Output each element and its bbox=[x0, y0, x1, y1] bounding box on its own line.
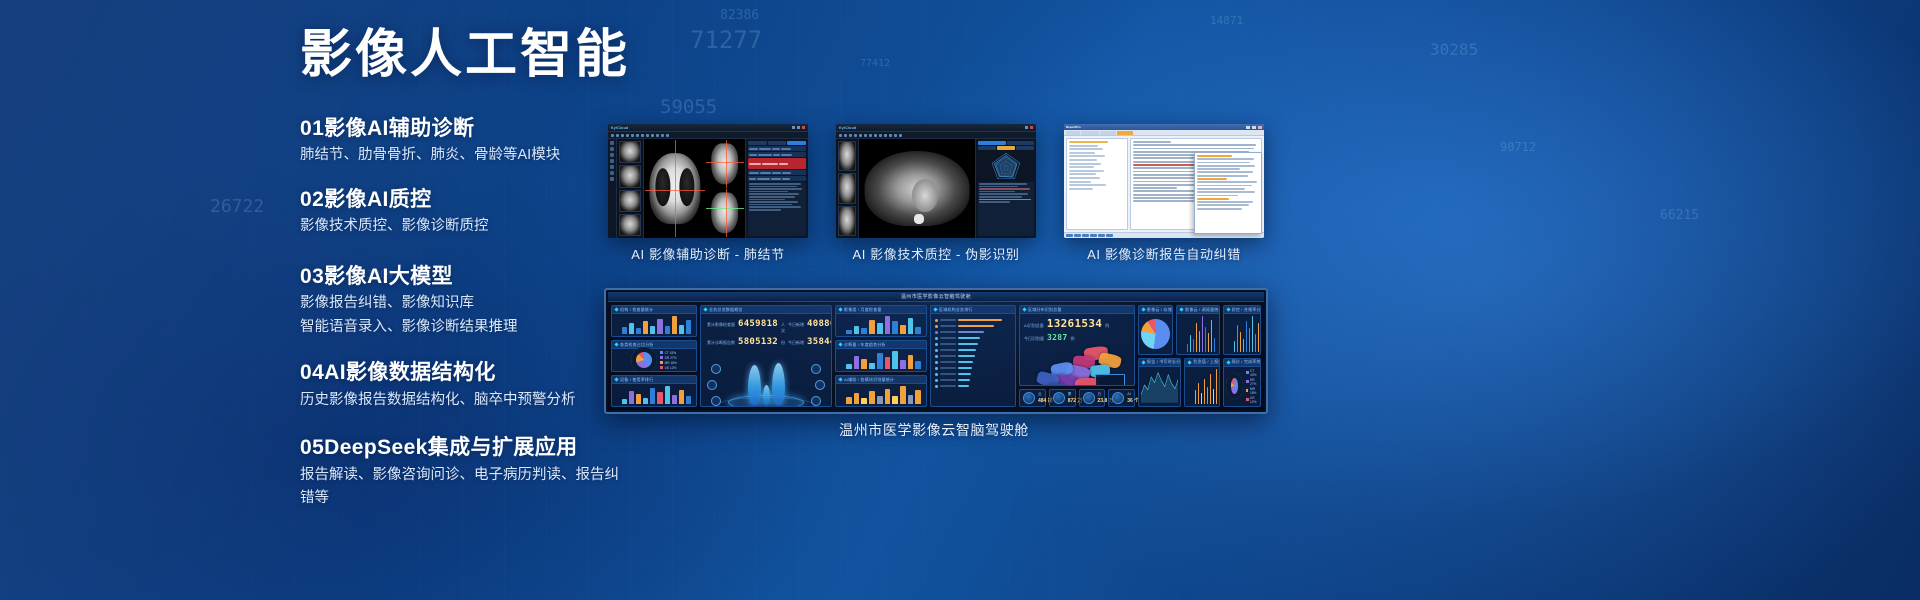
rank-marker bbox=[935, 319, 938, 322]
toolbar-icon[interactable] bbox=[849, 134, 852, 137]
background-number: 26722 bbox=[210, 196, 264, 217]
kpi-value: 408864 bbox=[807, 319, 832, 329]
feature-description: 肺结节、肋骨骨折、肺炎、骨龄等AI模块 bbox=[300, 144, 630, 167]
panel-button[interactable] bbox=[748, 141, 767, 145]
close-icon[interactable] bbox=[1030, 126, 1033, 129]
bar bbox=[1255, 334, 1256, 351]
bar bbox=[665, 386, 670, 404]
panel-button[interactable] bbox=[768, 141, 787, 145]
tree-node[interactable] bbox=[1069, 184, 1106, 186]
panel-button-primary[interactable] bbox=[787, 141, 806, 145]
legend-label: US 12% bbox=[665, 366, 677, 370]
rank-bar bbox=[958, 319, 1002, 322]
dashboard-column-4: 区域机构业务排行 bbox=[930, 305, 1016, 407]
tree-node[interactable] bbox=[1069, 159, 1097, 161]
rank-label bbox=[940, 325, 956, 327]
bar bbox=[1190, 335, 1191, 351]
dashboard-panel[interactable]: 诊断量 / 年度趋势分析 bbox=[835, 340, 927, 372]
bar bbox=[892, 351, 898, 369]
crosshair-vertical bbox=[675, 140, 676, 237]
bar bbox=[846, 364, 852, 369]
bar-chart bbox=[838, 351, 924, 371]
dashboard-map-panel[interactable]: 区域分布识别总量 AI识别总量 13261534 例 今日识别量 bbox=[1019, 305, 1135, 386]
toolbar-icon[interactable] bbox=[884, 134, 887, 137]
bar bbox=[885, 357, 891, 369]
maximize-icon[interactable] bbox=[1252, 126, 1256, 129]
legend-label: CT 43% bbox=[1250, 369, 1258, 377]
legend-item: CT 43% bbox=[1246, 369, 1258, 377]
rank-label bbox=[940, 385, 956, 387]
bar bbox=[1216, 369, 1217, 405]
ct-side-views bbox=[706, 140, 744, 237]
series-thumbnail[interactable] bbox=[838, 141, 856, 171]
region-map[interactable] bbox=[1022, 346, 1132, 386]
feature-description: 历史影像报告数据结构化、脑卒中预警分析 bbox=[300, 389, 630, 412]
rank-marker bbox=[935, 385, 938, 388]
bar bbox=[869, 363, 875, 370]
panel-body: CT 43%DR 27%MR 18%US 12% bbox=[612, 349, 696, 371]
bar bbox=[636, 328, 641, 334]
tree-node[interactable] bbox=[1069, 163, 1101, 165]
panel-body: 累计影像检查量 6459818 人次 今日新增 408864 人次 累计诊断报告… bbox=[701, 314, 831, 406]
toolbar-icon[interactable] bbox=[864, 134, 867, 137]
bar bbox=[1246, 321, 1247, 352]
toolbar-icon[interactable] bbox=[666, 134, 669, 137]
toolbar-icon[interactable] bbox=[839, 134, 842, 137]
toolbar-icon[interactable] bbox=[661, 134, 664, 137]
hologram-icon[interactable] bbox=[811, 396, 821, 406]
kpi-unit: 人次 bbox=[781, 322, 785, 334]
tree-node[interactable] bbox=[1069, 188, 1093, 190]
stat-pill[interactable]: 累计用户872 万 bbox=[1049, 389, 1076, 407]
ct-axial-view[interactable] bbox=[860, 140, 974, 237]
tree-node[interactable] bbox=[1069, 155, 1105, 157]
legend-swatch bbox=[1246, 380, 1248, 383]
qc-tab[interactable] bbox=[978, 141, 1006, 145]
viewer-toolbar[interactable] bbox=[836, 132, 1036, 139]
rail-icon[interactable] bbox=[610, 147, 614, 151]
close-icon[interactable] bbox=[802, 126, 805, 129]
bar bbox=[650, 388, 655, 404]
crosshair-vertical bbox=[726, 140, 727, 188]
panel-title: 区域机构业务排行 bbox=[931, 306, 1015, 314]
viewer-body bbox=[836, 139, 1036, 238]
dashboard-panel[interactable]: 影像类 / 月度检查量 bbox=[835, 305, 927, 337]
toolbar-icon[interactable] bbox=[651, 134, 654, 137]
toolbar-icon[interactable] bbox=[611, 134, 614, 137]
feature-item-01: 01影像AI辅助诊断 肺结节、肋骨骨折、肺炎、骨龄等AI模块 bbox=[300, 113, 630, 168]
statusbar-button[interactable] bbox=[1098, 234, 1105, 237]
bar bbox=[854, 356, 860, 369]
kpi-label: 今日新增 bbox=[788, 322, 804, 328]
panel-body: AI识别总量 13261534 例 今日识别量 3287 例 bbox=[1020, 314, 1134, 385]
panel-title: 影像云 / 调阅量统计 bbox=[1177, 306, 1218, 314]
minimize-icon[interactable] bbox=[1025, 126, 1028, 129]
bar bbox=[1193, 339, 1194, 351]
qc-filter-button[interactable] bbox=[1016, 146, 1034, 150]
dashboard-overview-panel[interactable]: 业务总览数据概览 累计影像检查量 6459818 人次 今日新增 408864 … bbox=[700, 305, 832, 407]
rank-label bbox=[940, 337, 956, 339]
panel-title: 各类检查占比分析 bbox=[612, 341, 696, 349]
kpi-label: 今日新增 bbox=[788, 340, 804, 346]
bar bbox=[1205, 327, 1206, 352]
ct-axial-view[interactable] bbox=[645, 140, 705, 237]
bar bbox=[1213, 389, 1214, 404]
series-thumbnail[interactable] bbox=[619, 190, 641, 212]
legend-swatch bbox=[1246, 398, 1248, 401]
rank-label bbox=[940, 379, 956, 381]
qc-viewer-window: KylCloud bbox=[836, 124, 1036, 238]
toolbar-icon[interactable] bbox=[621, 134, 624, 137]
hologram-icon[interactable] bbox=[711, 364, 721, 374]
finding-row[interactable] bbox=[748, 170, 806, 175]
bar-chart bbox=[1226, 316, 1258, 354]
feature-item-04: 04AI影像数据结构化 历史影像报告数据结构化、脑卒中预警分析 bbox=[300, 357, 630, 412]
bar bbox=[665, 326, 670, 334]
series-thumbnail[interactable] bbox=[838, 173, 856, 203]
kpi-block: 累计影像检查量 6459818 人次 今日新增 408864 人次 累计诊断报告… bbox=[703, 316, 829, 407]
finding-row[interactable] bbox=[748, 152, 806, 157]
tree-node[interactable] bbox=[1069, 181, 1091, 183]
statusbar-button[interactable] bbox=[1082, 234, 1089, 237]
findings-action-buttons[interactable] bbox=[748, 141, 806, 145]
close-icon[interactable] bbox=[1258, 126, 1262, 129]
toolbar-icon[interactable] bbox=[899, 134, 902, 137]
kpi-row: AI识别总量 13261534 例 bbox=[1024, 317, 1130, 330]
rail-icon[interactable] bbox=[610, 177, 614, 181]
bar bbox=[900, 386, 906, 404]
autocorrect-suggestion-panel[interactable] bbox=[1194, 152, 1262, 234]
stat-pill[interactable]: 云平台接入机构484 家 bbox=[1019, 389, 1046, 407]
ranking-row[interactable] bbox=[935, 383, 1011, 389]
bar bbox=[1243, 339, 1244, 352]
bar bbox=[672, 395, 677, 404]
rank-marker bbox=[935, 343, 938, 346]
toolbar-icon[interactable] bbox=[646, 134, 649, 137]
hologram-icon[interactable] bbox=[815, 380, 825, 390]
toolbar-icon[interactable] bbox=[616, 134, 619, 137]
bar bbox=[869, 320, 875, 334]
background-number: 59055 bbox=[660, 96, 717, 118]
legend-item: CT 43% bbox=[660, 351, 677, 355]
rank-bar bbox=[958, 373, 971, 376]
toolbar-icon[interactable] bbox=[656, 134, 659, 137]
legend-swatch bbox=[660, 356, 663, 359]
findings-text-block bbox=[748, 182, 806, 236]
bar bbox=[622, 327, 627, 334]
donut-chart: CT 43%DR 27%MR 18%US 12% bbox=[614, 351, 694, 369]
viewer-toolbar[interactable] bbox=[608, 132, 808, 139]
rail-icon[interactable] bbox=[610, 153, 614, 157]
qc-filter-button-active[interactable] bbox=[997, 146, 1015, 150]
finding-row-alert[interactable] bbox=[748, 158, 806, 169]
rank-marker bbox=[935, 373, 938, 376]
kpi-label: 累计诊断报告数 bbox=[707, 340, 735, 346]
toolbar-icon[interactable] bbox=[879, 134, 882, 137]
bar-chart bbox=[838, 316, 924, 336]
ct-viewer-window: KylCloud bbox=[608, 124, 808, 238]
app-brand-label: ReportPro bbox=[1066, 125, 1081, 129]
background-number: 66215 bbox=[1660, 208, 1699, 223]
pie-chart bbox=[1141, 316, 1170, 352]
minimize-icon[interactable] bbox=[1246, 126, 1250, 129]
panel-title: AI辅助 / 各模块识别量统计 bbox=[836, 376, 926, 384]
legend-item: MR 18% bbox=[1246, 387, 1258, 395]
qc-tabs[interactable] bbox=[978, 141, 1034, 145]
stat-pill-value: 484 家 bbox=[1038, 397, 1042, 404]
dashboard-panel[interactable]: 质控 / 合格率分析 bbox=[1223, 305, 1261, 355]
dashboard-panel[interactable]: 随访 / 完成率统计 CT 43%DR 27%MR 18%US 12% bbox=[1223, 358, 1261, 408]
bar bbox=[1198, 383, 1199, 404]
tree-node[interactable] bbox=[1069, 145, 1098, 147]
dashboard-panel[interactable]: 报告 / 书写时长分析 bbox=[1138, 358, 1181, 408]
feature-title: 04AI影像数据结构化 bbox=[300, 357, 630, 389]
legend-item: DR 27% bbox=[660, 356, 677, 360]
stat-pill[interactable]: AI模型数36 个 bbox=[1108, 389, 1135, 407]
pie-ring bbox=[1141, 319, 1170, 349]
rank-label bbox=[940, 373, 956, 375]
feature-description: 影像技术质控、影像诊断质控 bbox=[300, 215, 630, 238]
legend-label: DR 27% bbox=[665, 356, 677, 360]
panel-header-line bbox=[1197, 155, 1232, 157]
statusbar-button[interactable] bbox=[1066, 234, 1073, 237]
editor-tab[interactable] bbox=[1081, 131, 1099, 135]
background-number: 77412 bbox=[860, 58, 890, 69]
dashboard-title: 温州市医学影像云智脑驾驶舱 bbox=[608, 292, 1264, 302]
ct-sagittal-image bbox=[711, 192, 739, 233]
dashboard-panel[interactable]: 各类检查占比分析 CT 43%DR 27%MR 18%US 12% bbox=[611, 340, 697, 372]
toolbar-icon[interactable] bbox=[874, 134, 877, 137]
legend-swatch bbox=[660, 361, 663, 364]
series-thumbnail-list[interactable] bbox=[836, 139, 859, 238]
legend-swatch bbox=[1246, 371, 1248, 374]
qc-result-panel bbox=[975, 139, 1036, 238]
toolbar-icon[interactable] bbox=[854, 134, 857, 137]
bar bbox=[877, 353, 883, 369]
toolbar-icon[interactable] bbox=[844, 134, 847, 137]
dashboard-column-3: 影像类 / 月度检查量 诊断量 / 年度趋势分析 AI辅助 / 各模块识别量统计 bbox=[835, 305, 927, 407]
bar bbox=[629, 323, 634, 334]
bar bbox=[686, 320, 691, 334]
toolbar-icon[interactable] bbox=[894, 134, 897, 137]
rank-label bbox=[940, 355, 956, 357]
bar bbox=[1237, 325, 1238, 351]
feature-item-03: 03影像AI大模型 影像报告纠错、影像知识库 智能语音录入、影像诊断结果推理 bbox=[300, 261, 630, 339]
bar bbox=[892, 321, 898, 334]
panel-title: 随访 / 完成率统计 bbox=[1224, 359, 1260, 367]
bar bbox=[908, 395, 914, 404]
bar bbox=[1204, 379, 1205, 404]
dashboard-panel[interactable]: 设备 / 使用率排行 bbox=[611, 375, 697, 407]
bar bbox=[1187, 344, 1188, 351]
background-number: 14871 bbox=[1210, 14, 1243, 27]
dashboard-panel[interactable]: AI辅助 / 各模块识别量统计 bbox=[835, 375, 927, 407]
rank-label bbox=[940, 331, 956, 333]
bar bbox=[657, 392, 662, 404]
radar-svg bbox=[979, 151, 1033, 181]
tree-node[interactable] bbox=[1069, 173, 1096, 175]
panel-title: 业务总览数据概览 bbox=[701, 306, 831, 314]
qc-filter-button[interactable] bbox=[978, 146, 996, 150]
dashboard-panel[interactable]: 危急值 / 上报统计 bbox=[1184, 358, 1219, 408]
tree-node-selected[interactable] bbox=[1069, 141, 1108, 143]
maximize-icon[interactable] bbox=[797, 126, 800, 129]
tree-node[interactable] bbox=[1069, 177, 1100, 179]
kpi-row: 今日识别量 3287 例 bbox=[1024, 333, 1130, 342]
bar bbox=[643, 398, 648, 405]
legend-item: DR 27% bbox=[1246, 378, 1258, 386]
rank-bar bbox=[958, 361, 973, 364]
dashboard-right-row-1: 影像云 / 存储量统计 影像云 / 调阅量统计 bbox=[1138, 305, 1261, 355]
panel-body bbox=[836, 314, 926, 336]
dashboard-column-2: 业务总览数据概览 累计影像检查量 6459818 人次 今日新增 408864 … bbox=[700, 305, 832, 407]
bar bbox=[846, 330, 852, 334]
bar bbox=[1252, 316, 1253, 352]
dashboard-ranking-panel[interactable]: 区域机构业务排行 bbox=[930, 305, 1016, 407]
feature-title: 02影像AI质控 bbox=[300, 184, 630, 216]
dashboard-panel[interactable]: 影像云 / 调阅量统计 bbox=[1176, 305, 1219, 355]
ct-sagittal-view[interactable] bbox=[706, 189, 744, 237]
dashboard-caption: 温州市医学影像云智脑驾驶舱 bbox=[604, 420, 1264, 440]
screenshot-caption-1: AI 影像辅助诊断 - 肺结节 bbox=[608, 244, 808, 263]
rank-label bbox=[940, 343, 956, 345]
bar bbox=[915, 361, 921, 369]
qc-tab[interactable] bbox=[1007, 141, 1035, 145]
bar bbox=[892, 396, 898, 404]
series-thumbnail[interactable] bbox=[619, 214, 641, 236]
finding-row[interactable] bbox=[748, 146, 806, 151]
editor-tab[interactable] bbox=[1100, 131, 1116, 135]
legend-item: US 12% bbox=[1246, 396, 1258, 404]
hologram-icon[interactable] bbox=[811, 364, 821, 374]
viewer-body bbox=[608, 139, 808, 238]
map-tooltip bbox=[1095, 374, 1126, 386]
toolbar-icon[interactable] bbox=[859, 134, 862, 137]
statusbar-button[interactable] bbox=[1090, 234, 1097, 237]
toolbar-icon[interactable] bbox=[636, 134, 639, 137]
bar-chart bbox=[838, 386, 924, 406]
hologram-icon[interactable] bbox=[711, 396, 721, 406]
bar bbox=[1214, 338, 1215, 352]
bar bbox=[861, 398, 867, 404]
donut-ring bbox=[1226, 373, 1244, 399]
series-thumbnail[interactable] bbox=[619, 165, 641, 187]
statusbar-button[interactable] bbox=[1074, 234, 1081, 237]
rank-label bbox=[940, 367, 956, 369]
bar bbox=[915, 327, 921, 334]
dashboard-right-row-2: 报告 / 书写时长分析 危急值 / 上报统计 随访 bbox=[1138, 358, 1261, 408]
finding-row[interactable] bbox=[748, 176, 806, 181]
rank-marker bbox=[935, 367, 938, 370]
window-titlebar: KylCloud bbox=[608, 124, 808, 132]
dashboard-screen: 温州市医学影像云智脑驾驶舱 机构 / 检查量统计 各类检查占比分析 bbox=[608, 292, 1264, 410]
ranking-list[interactable] bbox=[933, 316, 1013, 390]
panel-title: 设备 / 使用率排行 bbox=[612, 376, 696, 384]
tree-node[interactable] bbox=[1069, 152, 1095, 154]
rail-icon[interactable] bbox=[610, 171, 614, 175]
screenshot-ct-artifact-qc: KylCloud bbox=[836, 124, 1036, 238]
map-kpi-block: AI识别总量 13261534 例 今日识别量 3287 例 bbox=[1022, 316, 1132, 346]
hologram-figures bbox=[707, 350, 825, 407]
bar bbox=[1199, 331, 1200, 352]
toolbar-icon[interactable] bbox=[869, 134, 872, 137]
tree-node[interactable] bbox=[1069, 170, 1104, 172]
bar bbox=[1234, 341, 1235, 351]
feature-desc-line: 影像报告纠错、影像知识库 bbox=[300, 292, 630, 315]
toolbar-icon[interactable] bbox=[641, 134, 644, 137]
screenshot-caption-2: AI 影像技术质控 - 伪影识别 bbox=[836, 244, 1036, 263]
editor-tab[interactable] bbox=[1066, 131, 1080, 135]
legend-swatch bbox=[660, 351, 663, 354]
rank-bar bbox=[958, 343, 978, 346]
bar bbox=[629, 391, 634, 404]
qc-filter-buttons[interactable] bbox=[978, 146, 1034, 150]
series-thumbnail[interactable] bbox=[619, 141, 641, 163]
app-brand-label: KylCloud bbox=[839, 126, 856, 130]
ct-coronal-view[interactable] bbox=[706, 140, 744, 188]
donut-legend: CT 43%DR 27%MR 18%US 12% bbox=[660, 351, 677, 370]
rail-icon[interactable] bbox=[610, 141, 614, 145]
feature-title: 01影像AI辅助诊断 bbox=[300, 113, 630, 145]
panel-body bbox=[612, 384, 696, 406]
tree-node[interactable] bbox=[1069, 148, 1103, 150]
bar-chart bbox=[1179, 316, 1216, 354]
dashboard-panel[interactable]: 影像云 / 存储量统计 bbox=[1138, 305, 1173, 355]
series-thumbnail-list[interactable] bbox=[617, 139, 644, 238]
bar bbox=[672, 316, 677, 334]
background-number: 90712 bbox=[1500, 140, 1536, 154]
rail-icon[interactable] bbox=[610, 165, 614, 169]
report-template-tree[interactable] bbox=[1066, 138, 1128, 230]
toolbar-icon[interactable] bbox=[626, 134, 629, 137]
ct-spine-region bbox=[914, 214, 924, 225]
panel-body bbox=[1139, 367, 1180, 407]
page-title: 影像人工智能 bbox=[300, 28, 630, 83]
dashboard-panel[interactable]: 机构 / 检查量统计 bbox=[611, 305, 697, 337]
panel-body bbox=[836, 384, 926, 406]
editor-tab-active[interactable] bbox=[1117, 131, 1133, 135]
bar bbox=[885, 316, 891, 334]
toolbar-icon[interactable] bbox=[889, 134, 892, 137]
bar bbox=[1208, 333, 1209, 351]
report-editor-window: ReportPro bbox=[1064, 124, 1264, 238]
rank-marker bbox=[935, 355, 938, 358]
minimize-icon[interactable] bbox=[792, 126, 795, 129]
bar bbox=[877, 396, 883, 404]
hologram-icon[interactable] bbox=[707, 380, 717, 390]
bar bbox=[1201, 393, 1202, 404]
viewer-tool-rail[interactable] bbox=[608, 139, 617, 238]
panel-body bbox=[836, 349, 926, 371]
bar bbox=[869, 391, 875, 404]
rail-icon[interactable] bbox=[610, 159, 614, 163]
panel-title: 机构 / 检查量统计 bbox=[612, 306, 696, 314]
legend-item: US 12% bbox=[660, 366, 677, 370]
toolbar-icon[interactable] bbox=[631, 134, 634, 137]
bar bbox=[622, 399, 627, 404]
bar bbox=[686, 396, 691, 404]
stat-pill[interactable]: 日均调阅23.8 万 bbox=[1079, 389, 1106, 407]
panel-body bbox=[931, 314, 1015, 406]
series-thumbnail[interactable] bbox=[838, 206, 856, 236]
stat-pill-value: 36 个 bbox=[1127, 397, 1131, 404]
panel-body: CT 43%DR 27%MR 18%US 12% bbox=[1224, 367, 1260, 407]
feature-item-02: 02影像AI质控 影像技术质控、影像诊断质控 bbox=[300, 184, 630, 239]
donut-ring bbox=[631, 347, 657, 372]
statusbar-button[interactable] bbox=[1106, 234, 1113, 237]
kpi-unit: 例 bbox=[1105, 323, 1109, 329]
tree-node[interactable] bbox=[1069, 166, 1094, 168]
